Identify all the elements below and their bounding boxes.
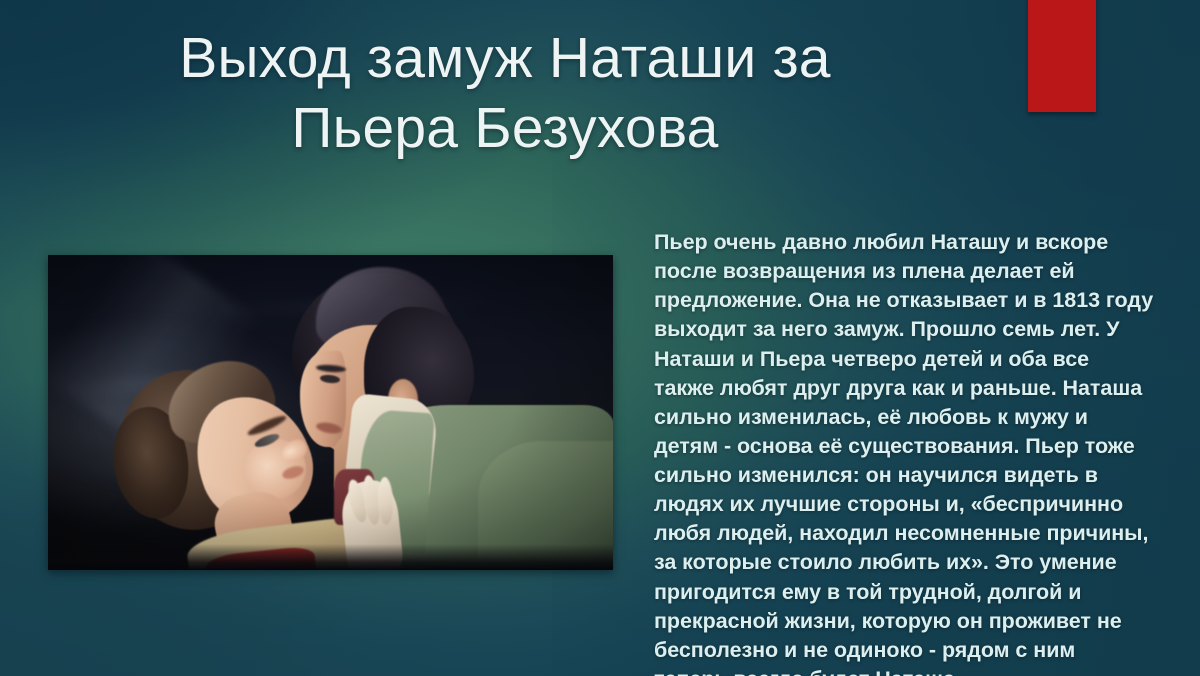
- film-still-photo: [48, 255, 613, 570]
- red-accent-bar: [1028, 0, 1096, 112]
- slide-body-text: Пьер очень давно любил Наташу и вскоре п…: [654, 228, 1154, 676]
- photo-vignette: [48, 255, 613, 570]
- photo-bottom-shadow: [48, 544, 613, 570]
- presentation-slide: Выход замуж Наташи за Пьера Безухова: [0, 0, 1200, 676]
- slide-title: Выход замуж Наташи за Пьера Безухова: [110, 24, 900, 163]
- slide-image: [48, 255, 613, 570]
